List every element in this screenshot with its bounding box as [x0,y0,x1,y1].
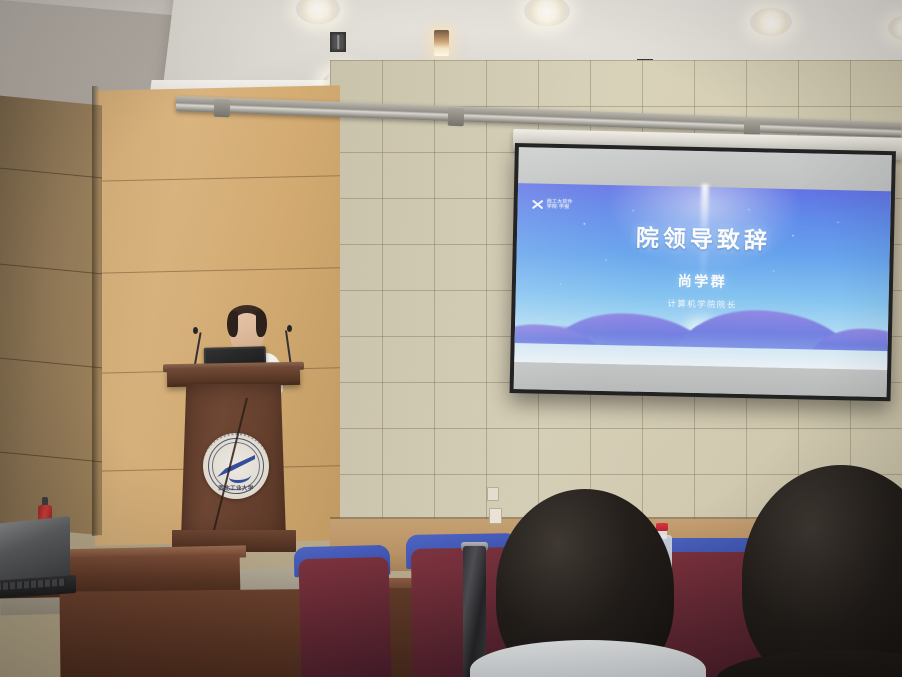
x-logo-icon [531,198,544,211]
rail-bracket [214,99,231,118]
microphone-head-right [287,325,292,332]
bottle-cap [656,523,668,531]
wall-outlet-icon [489,508,502,524]
presenter-hair-left [227,311,238,337]
wall-outlet-icon [487,487,499,501]
slide-logo-text: 西工大软件 学院·学报 [547,199,573,211]
presentation-slide: 西工大软件 学院·学报 院领导致辞 尚学群 计算机学院院长 [514,183,891,370]
screen-surface: 西工大软件 学院·学报 院领导致辞 尚学群 计算机学院院长 [514,147,892,397]
microphone-head-left [193,327,198,334]
dark-wood-corner-wall [0,95,102,535]
auditorium-seat[interactable] [298,557,391,677]
presenter-hair-right [256,311,267,337]
slide-logo: 西工大软件 学院·学报 [531,198,573,212]
foreground-laptop[interactable] [0,520,78,600]
ceiling-fixture-icon [330,32,346,52]
emblem-name-text: 西北工业大学 [203,484,269,492]
projection-screen[interactable]: 西工大软件 学院·学报 院领导致辞 尚学群 计算机学院院长 [510,143,896,401]
slide-logo-line2: 学院·学报 [547,205,573,211]
rail-bracket [448,108,465,127]
warm-spotlight-icon [434,30,449,56]
downlight-icon [750,8,792,36]
conference-hall-photo: 西工大软件 学院·学报 院领导致辞 尚学群 计算机学院院长 [0,0,902,677]
wall-corner-shadow [92,86,99,536]
